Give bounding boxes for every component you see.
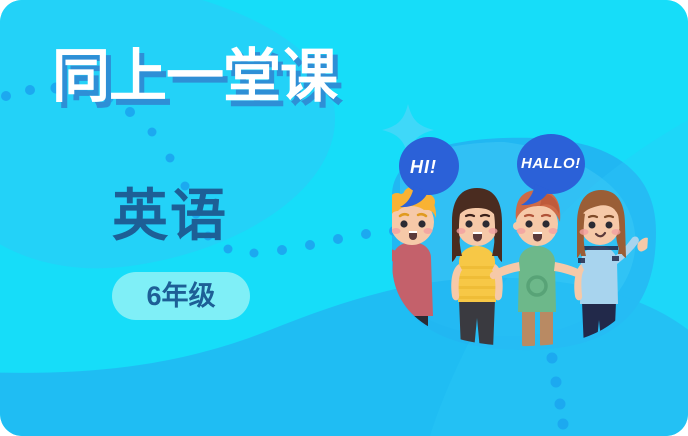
- course-cover-card: 同上一堂课 英语 6年级 HI! HALLO!: [0, 0, 688, 436]
- grade-badge-label: 6年级: [146, 283, 215, 310]
- page-title: 同上一堂课: [52, 48, 337, 106]
- text-layer: 同上一堂课 英语 6年级 HI! HALLO!: [0, 0, 688, 436]
- subject-title: 英语: [112, 188, 228, 244]
- grade-badge: 6年级: [112, 272, 250, 320]
- speech-bubble-hallo-label: HALLO!: [521, 155, 581, 172]
- speech-bubble-hi-label: HI!: [410, 157, 437, 178]
